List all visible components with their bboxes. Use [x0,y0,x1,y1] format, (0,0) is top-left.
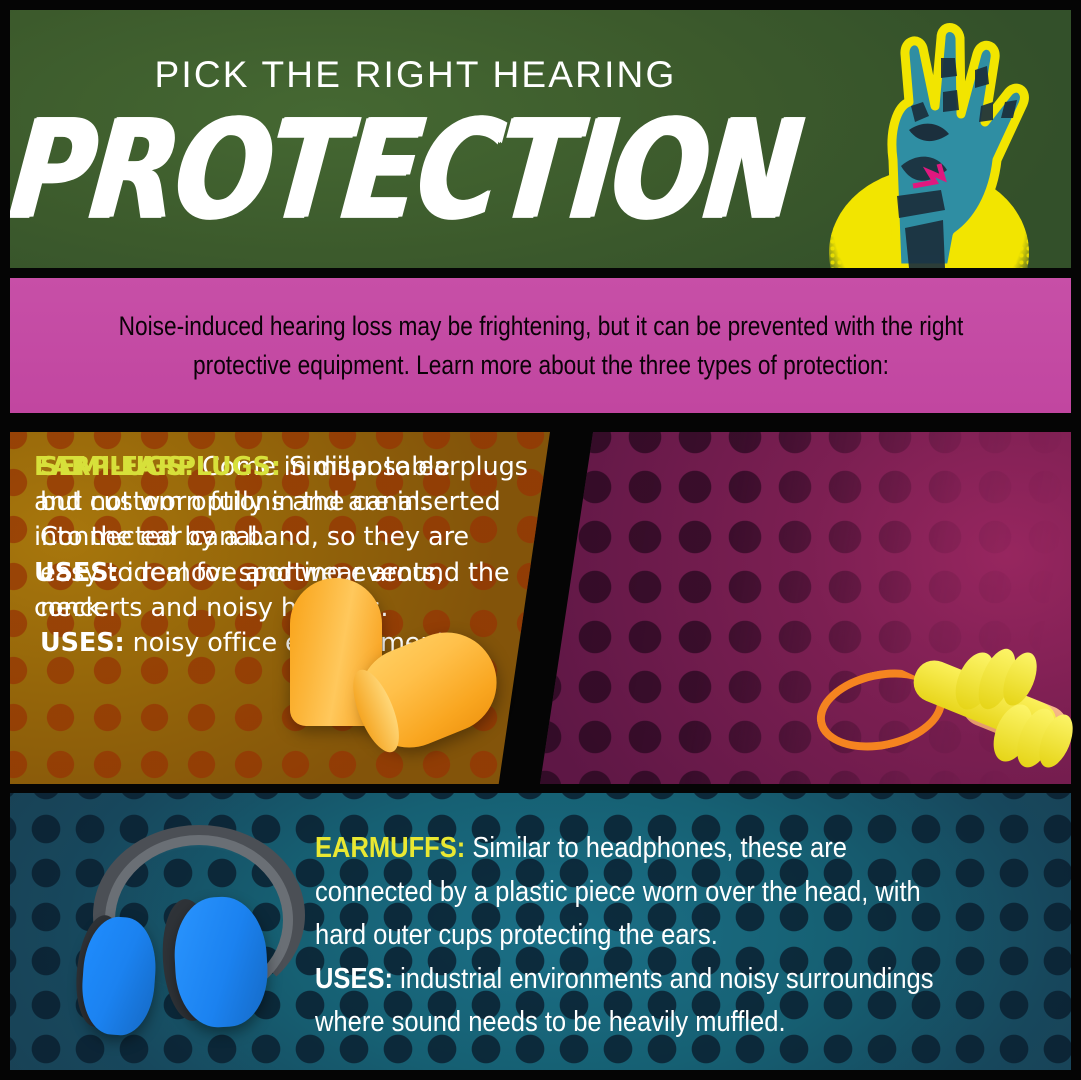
corded-earplug-icon [810,645,1070,780]
intro-text: Noise-induced hearing loss may be fright… [104,307,978,384]
panel-earmuffs: EARMUFFS: Similar to headphones, these a… [10,793,1071,1070]
earmuffs-copy: EARMUFFS: Similar to headphones, these a… [315,827,966,1045]
infographic-canvas: PICK THE RIGHT HEARING PROTECTION [0,0,1081,1080]
earmuffs-uses-label: USES: [315,963,393,995]
semi-earplugs-label: SEMI-EARPLUGS: [40,452,281,482]
earmuffs-uses: industrial environments and noisy surrou… [315,963,933,1039]
header-kicker: PICK THE RIGHT HEARING [10,54,821,96]
earmuffs-label: EARMUFFS: [315,832,465,864]
zombie-hand-icon [801,10,1051,268]
page-title: PROTECTION [10,102,781,239]
semi-earplugs-uses-label: USES: [40,628,125,658]
semi-earplugs-copy: SEMI-EARPLUGS: Similar to earplugs but n… [40,450,530,661]
intro-banner: Noise-induced hearing loss may be fright… [10,278,1071,413]
header-banner: PICK THE RIGHT HEARING PROTECTION [10,10,1071,268]
earmuffs-icon [75,815,325,1045]
zombie-hand-art [801,10,1051,268]
